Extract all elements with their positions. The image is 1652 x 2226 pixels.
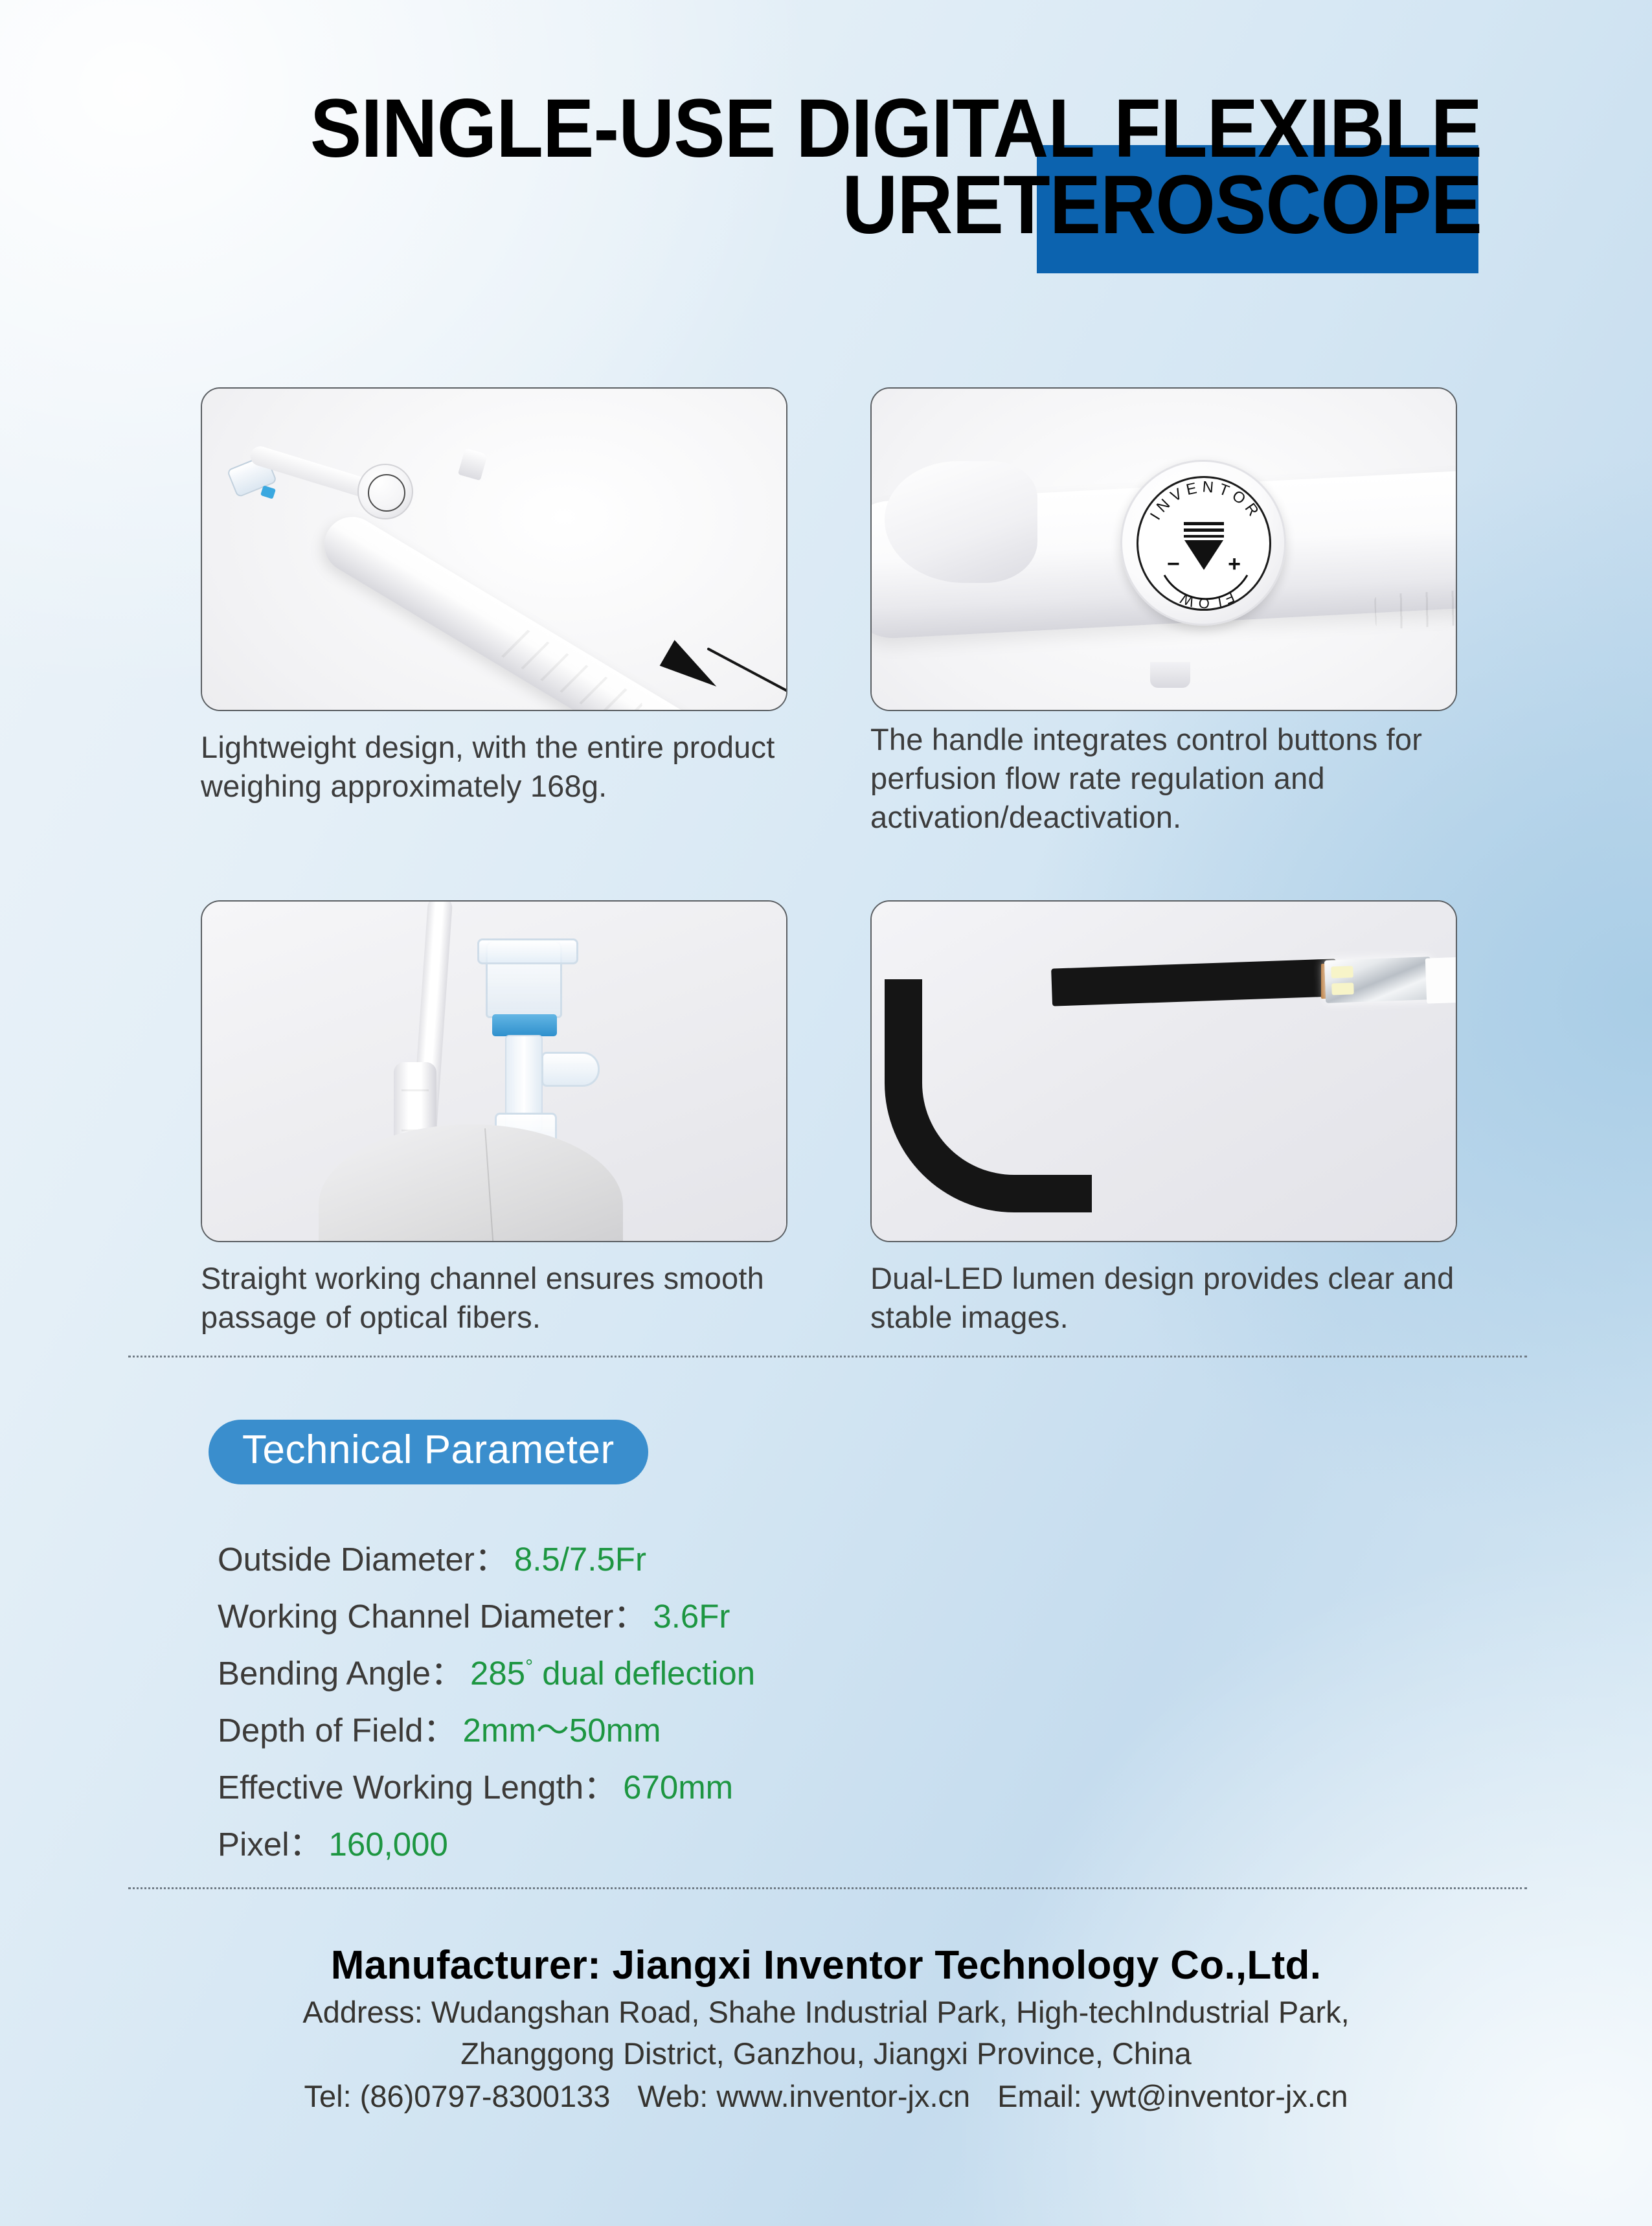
manufacturer-name: Manufacturer: Jiangxi Inventor Technolog… — [0, 1940, 1652, 1992]
dial-minus-label: − — [1167, 552, 1180, 577]
dial-inner-ring: INVENTOR FLOW − + — [1137, 476, 1271, 611]
technical-parameter-list: Outside Diameter：8.5/7.5Fr Working Chann… — [218, 1531, 755, 1873]
feature-item-handle: INVENTOR FLOW − + — [870, 387, 1457, 837]
spec-row: Working Channel Diameter：3.6Fr — [218, 1588, 755, 1645]
footer: Manufacturer: Jiangxi Inventor Technolog… — [0, 1940, 1652, 2117]
spec-value: 3.6Fr — [653, 1598, 730, 1635]
spec-label: Bending Angle： — [218, 1655, 464, 1692]
feature-caption: Dual-LED lumen design provides clear and… — [870, 1259, 1457, 1337]
feature-item-working-channel: Straight working channel ensures smooth … — [201, 900, 787, 1337]
feature-item-dual-led: Dual-LED lumen design provides clear and… — [870, 900, 1457, 1337]
feature-grid: Lightweight design, with the entire prod… — [201, 387, 1457, 1337]
address-line-2: Zhanggong District, Ganzhou, Jiangxi Pro… — [0, 2033, 1652, 2074]
spec-row: Depth of Field：2mm〜50mm — [218, 1702, 755, 1759]
flow-bars-icon — [1184, 522, 1224, 538]
spec-label: Pixel： — [218, 1826, 322, 1863]
email[interactable]: Email: ywt@inventor-jx.cn — [997, 2079, 1348, 2113]
handle-ribs-shape — [1374, 587, 1457, 630]
feature-row-top: Lightweight design, with the entire prod… — [201, 387, 1457, 837]
spec-label: Depth of Field： — [218, 1712, 457, 1749]
dial-plus-label: + — [1228, 552, 1241, 577]
section-divider-top — [128, 1356, 1527, 1357]
flow-control-dial: INVENTOR FLOW − + — [1120, 460, 1286, 626]
page-title: SINGLE-USE DIGITAL FLEXIBLE URETEROSCOPE — [167, 91, 1482, 244]
svg-text:FLOW: FLOW — [1175, 589, 1237, 611]
spec-value: 160,000 — [329, 1826, 448, 1863]
led-lens-shape — [1425, 956, 1457, 1003]
technical-parameter-label: Technical Parameter — [242, 1427, 615, 1472]
distal-tip-shape — [1324, 957, 1432, 1003]
luer-valve-shape — [486, 940, 562, 1018]
technical-parameter-badge: Technical Parameter — [209, 1420, 648, 1484]
feature-caption: Lightweight design, with the entire prod… — [201, 728, 787, 806]
address-line-1: Address: Wudangshan Road, Shahe Industri… — [0, 1992, 1652, 2033]
feature-caption: The handle integrates control buttons fo… — [870, 720, 1457, 837]
blue-ring-shape — [492, 1014, 557, 1036]
spec-row: Bending Angle：285° dual deflection — [218, 1645, 755, 1702]
svg-text:INVENTOR: INVENTOR — [1147, 478, 1265, 523]
title-line-1: SINGLE-USE DIGITAL FLEXIBLE — [259, 91, 1482, 167]
section-divider-bottom — [128, 1887, 1527, 1889]
spec-value: 670mm — [623, 1769, 733, 1806]
whole-ureteroscope-photo — [201, 387, 787, 711]
spec-row: Outside Diameter：8.5/7.5Fr — [218, 1531, 755, 1588]
website[interactable]: Web: www.inventor-jx.cn — [637, 2079, 970, 2113]
spec-row: Pixel：160,000 — [218, 1816, 755, 1873]
dial-brand-label: INVENTOR — [1147, 478, 1265, 523]
spec-row: Effective Working Length：670mm — [218, 1759, 755, 1816]
spec-label: Effective Working Length： — [218, 1769, 617, 1806]
dual-led-tip-photo — [870, 900, 1457, 1242]
feature-row-bottom: Straight working channel ensures smooth … — [201, 900, 1457, 1337]
spec-label: Working Channel Diameter： — [218, 1598, 646, 1635]
telephone: Tel: (86)0797-8300133 — [304, 2079, 610, 2113]
valve-side-port-shape — [541, 1052, 600, 1087]
flow-dial-shape — [357, 464, 413, 519]
working-channel-photo — [201, 900, 787, 1242]
handle-control-dial-photo: INVENTOR FLOW − + — [870, 387, 1457, 711]
feature-item-lightweight: Lightweight design, with the entire prod… — [201, 387, 787, 837]
spec-value: 285° dual deflection — [470, 1655, 755, 1692]
brochure-page: SINGLE-USE DIGITAL FLEXIBLE URETEROSCOPE — [0, 0, 1652, 2226]
spec-label: Outside Diameter： — [218, 1541, 508, 1578]
handle-tab-shape — [1150, 662, 1190, 688]
title-line-2: URETEROSCOPE — [259, 167, 1482, 244]
dial-flow-label: FLOW — [1175, 589, 1237, 611]
feature-caption: Straight working channel ensures smooth … — [201, 1259, 787, 1337]
flow-triangle-icon — [1184, 540, 1223, 570]
spec-value: 2mm〜50mm — [463, 1712, 661, 1749]
contact-line: Tel: (86)0797-8300133Web: www.inventor-j… — [0, 2076, 1652, 2117]
spec-value: 8.5/7.5Fr — [514, 1541, 646, 1578]
